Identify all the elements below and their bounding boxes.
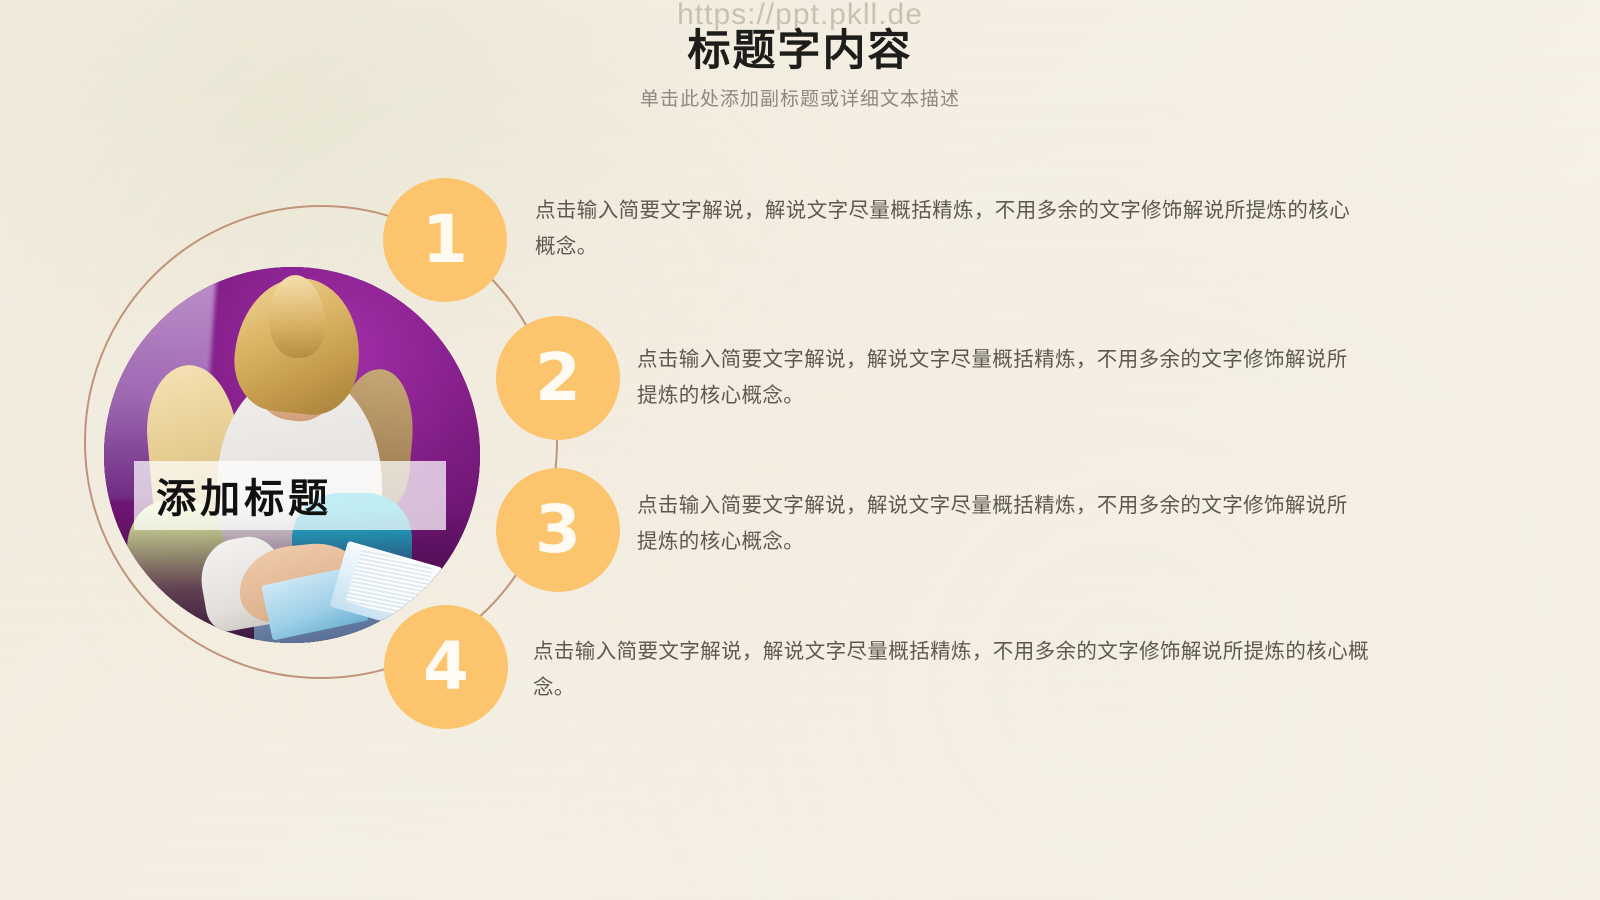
step-description-4: 点击输入简要文字解说，解说文字尽量概括精炼，不用多余的文字修饰解说所提炼的核心概… — [533, 634, 1378, 706]
page-subtitle: 单击此处添加副标题或详细文本描述 — [0, 84, 1600, 111]
step-marker-4[interactable]: 4 — [384, 605, 508, 729]
photo-caption-band: 添加标题 — [134, 461, 446, 531]
step-description-2: 点击输入简要文字解说，解说文字尽量概括精炼，不用多余的文字修饰解说所提炼的核心概… — [637, 342, 1357, 414]
page-title: 标题字内容 — [0, 16, 1600, 78]
step-description-1: 点击输入简要文字解说，解说文字尽量概括精炼，不用多余的文字修饰解说所提炼的核心概… — [535, 193, 1353, 265]
step-number-3: 3 — [535, 497, 581, 563]
step-marker-2[interactable]: 2 — [496, 316, 620, 440]
step-number-4: 4 — [423, 634, 469, 700]
photo-caption-text: 添加标题 — [134, 466, 332, 524]
photo-circle: 添加标题 — [104, 267, 480, 643]
presentation-slide: https://ppt.pkll.de 标题字内容 单击此处添加副标题或详细文本… — [0, 0, 1600, 900]
step-number-2: 2 — [535, 345, 581, 411]
step-marker-1[interactable]: 1 — [383, 178, 507, 302]
step-marker-3[interactable]: 3 — [496, 468, 620, 592]
step-number-1: 1 — [422, 207, 468, 273]
photo-illustration — [104, 267, 480, 643]
step-description-3: 点击输入简要文字解说，解说文字尽量概括精炼，不用多余的文字修饰解说所提炼的核心概… — [637, 488, 1357, 560]
